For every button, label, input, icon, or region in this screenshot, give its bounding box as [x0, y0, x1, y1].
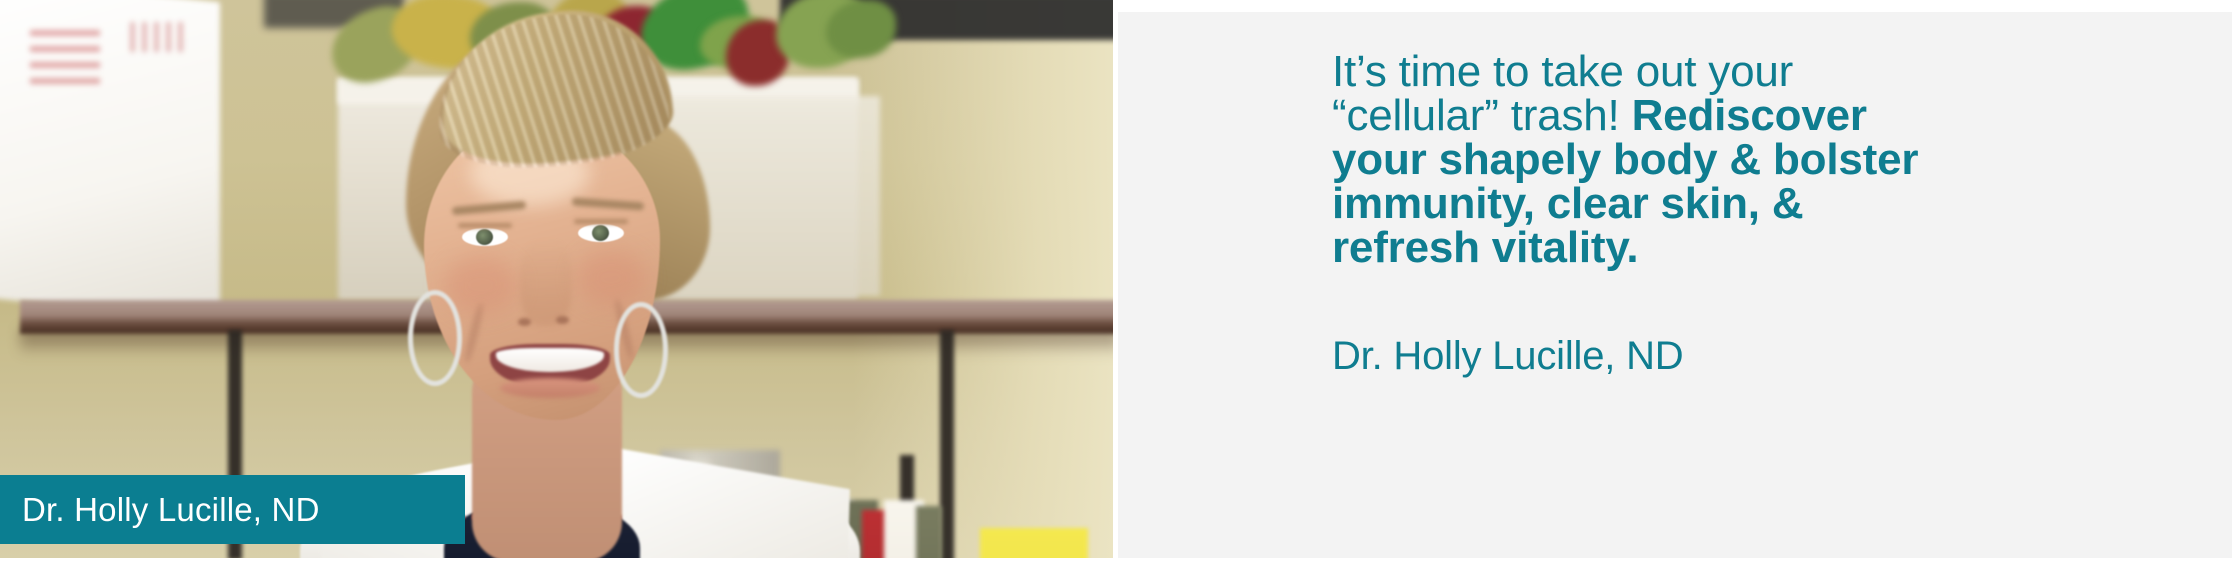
quote-attribution: Dr. Holly Lucille, ND: [1332, 270, 2172, 378]
quote-text: It’s time to take out your “cellular” tr…: [1332, 50, 1922, 270]
eyelid: [458, 223, 512, 228]
portrait-photo: Dr. Holly Lucille, ND: [0, 0, 1113, 558]
eyelid: [574, 219, 628, 224]
cheek: [576, 250, 646, 306]
eye: [462, 228, 508, 246]
lower-lip: [500, 378, 600, 398]
photo-caption-text: Dr. Holly Lucille, ND: [22, 491, 320, 529]
quote-panel: It’s time to take out your “cellular” tr…: [1118, 12, 2232, 558]
nostril: [556, 316, 569, 324]
hoop-earring: [614, 302, 668, 398]
nose: [520, 240, 572, 326]
testimonial-banner: Dr. Holly Lucille, ND It’s time to take …: [0, 0, 2232, 572]
photo-caption-badge: Dr. Holly Lucille, ND: [0, 475, 465, 544]
iris: [476, 229, 493, 245]
hoop-earring: [408, 290, 462, 386]
eye: [578, 224, 624, 242]
teeth: [496, 348, 604, 372]
nostril: [518, 318, 531, 326]
iris: [592, 225, 609, 241]
